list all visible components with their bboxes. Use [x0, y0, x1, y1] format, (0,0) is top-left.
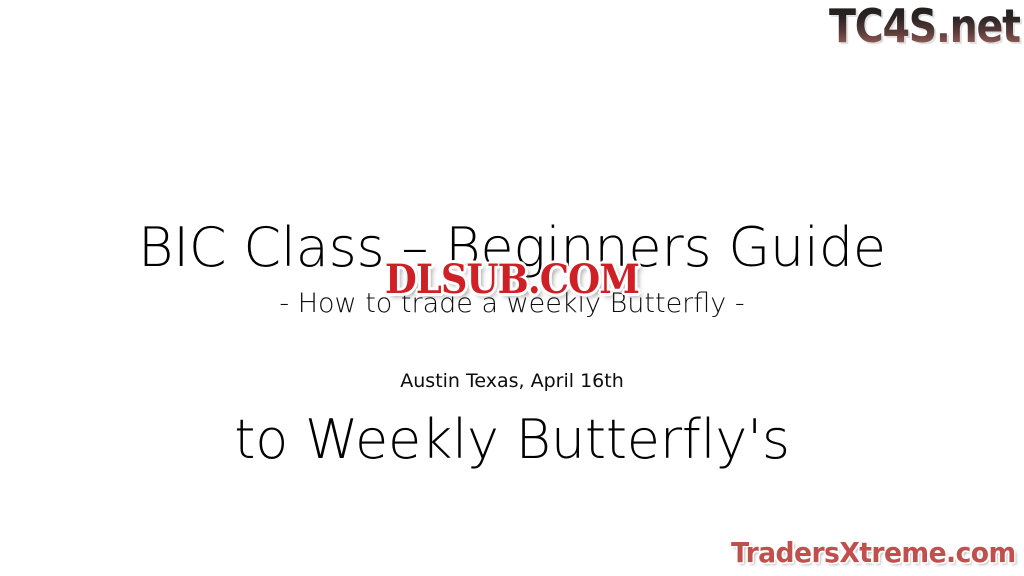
dlsub-watermark: DLSUB.COM: [41, 258, 983, 302]
slide-title-line-2: to Weekly Butterfly's: [0, 408, 1024, 472]
tradersxtreme-watermark: TradersXtreme.com: [731, 536, 1016, 570]
presentation-slide: TC4S.net TC4S.net BIC Class – Beginners …: [0, 0, 1024, 576]
slide-title: BIC Class – Beginners Guide to Weekly Bu…: [0, 88, 1024, 576]
tc4s-logo-watermark: TC4S.net: [829, 0, 1020, 52]
slide-event-line: Austin Texas, April 16th: [0, 369, 1024, 393]
